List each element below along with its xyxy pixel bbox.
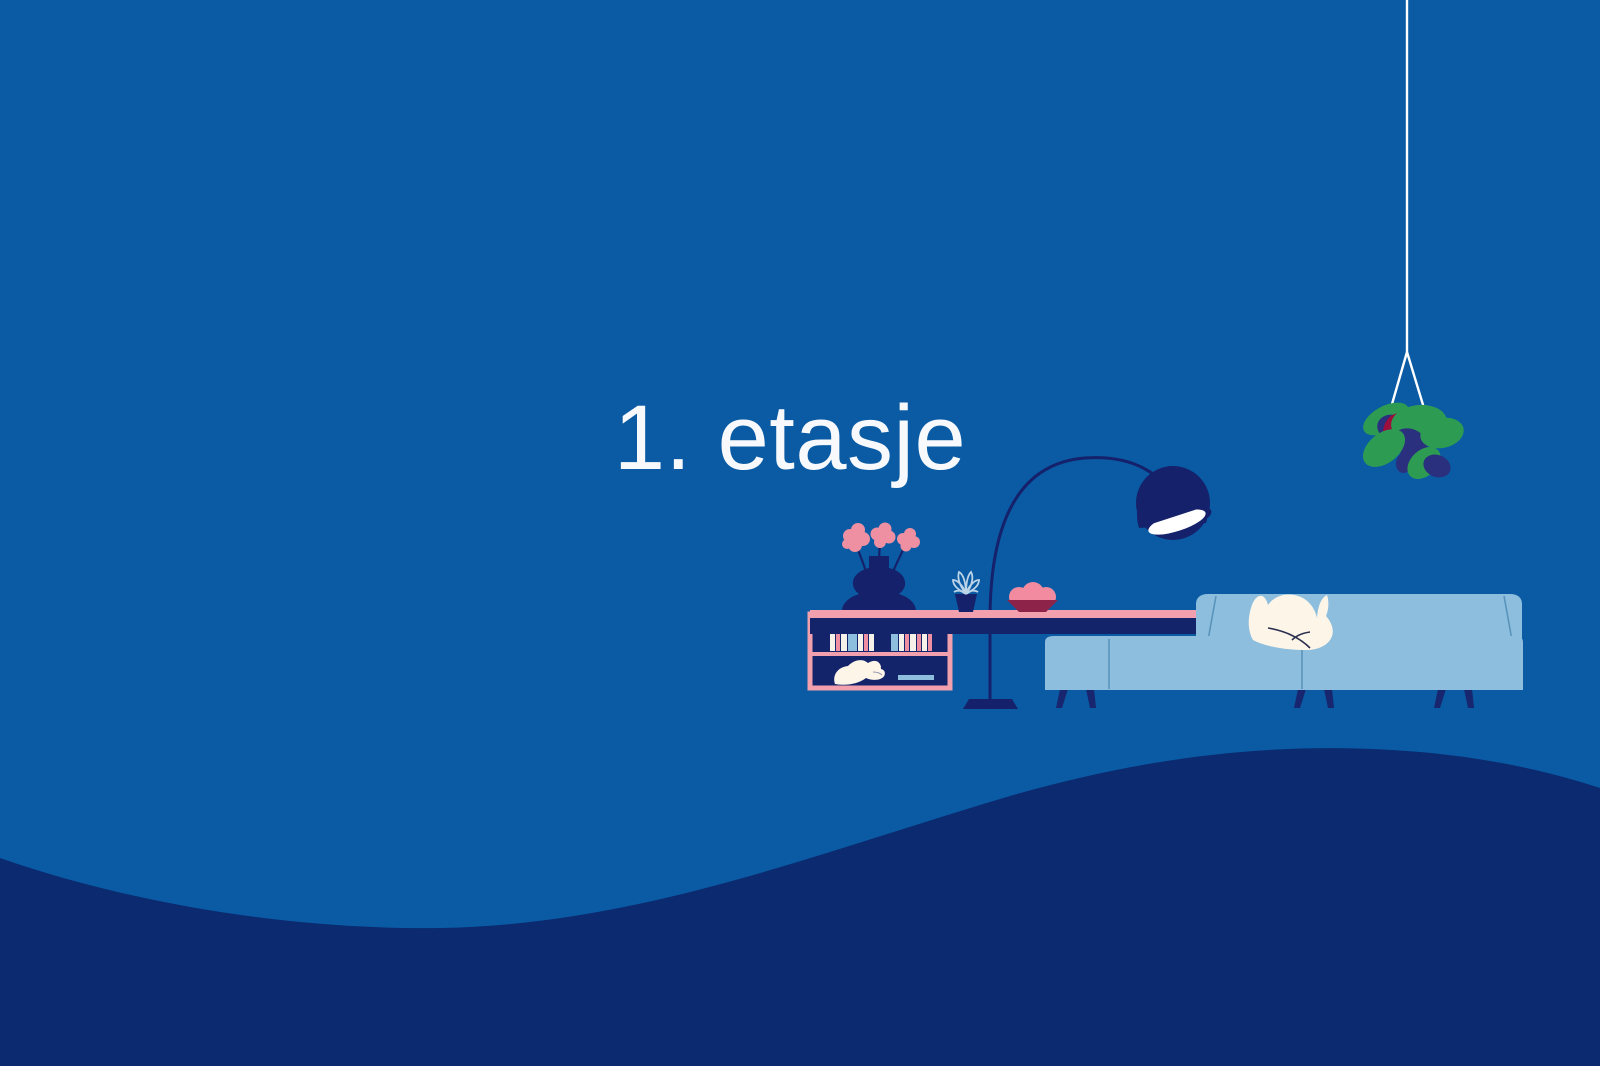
console-dark-band [810,618,1200,634]
lamp-base [963,699,1018,709]
console-surface-group [810,610,1200,634]
book-stacked [898,670,934,675]
book-stacked [898,675,934,680]
bookshelf-divider [812,652,948,656]
console-surface-top [810,610,1200,618]
sofa-backrest [1196,594,1522,641]
slide-canvas: 1. etasje [0,0,1600,1066]
scene-illustration [0,0,1600,1066]
